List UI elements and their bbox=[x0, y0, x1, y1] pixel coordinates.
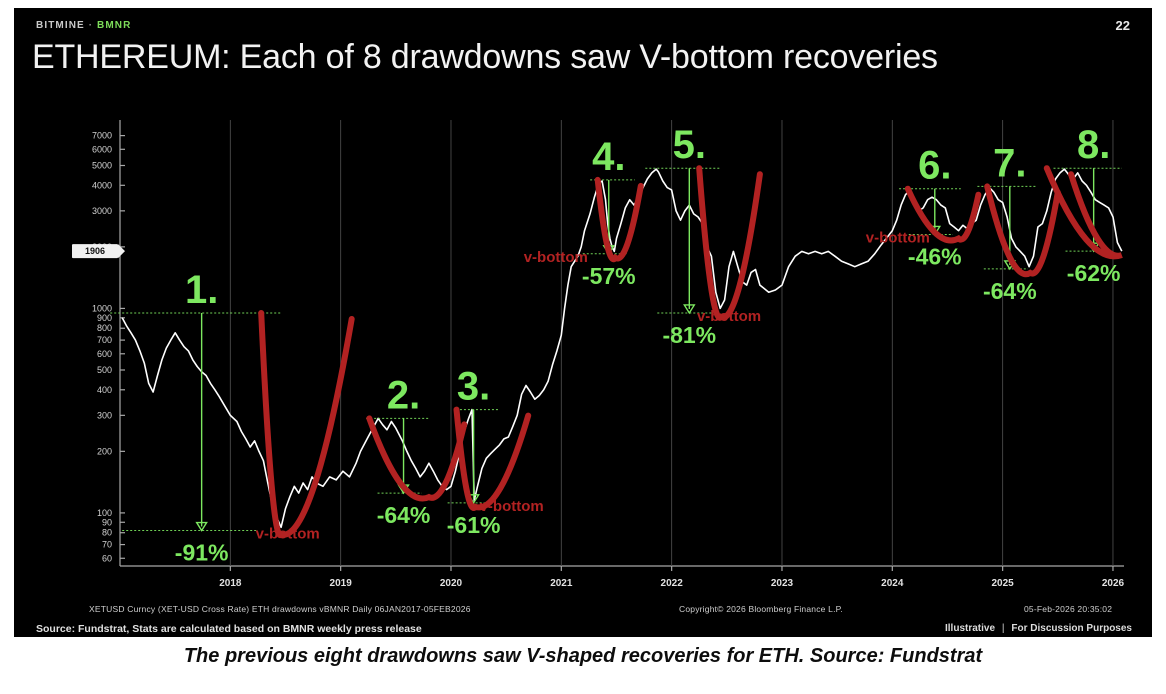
x-axis-tick-label: 2021 bbox=[550, 578, 573, 589]
v-bottom-text-label: v-bottom bbox=[866, 229, 930, 246]
x-axis-tick-label: 2024 bbox=[881, 578, 904, 589]
drawdown-number-label: 6. bbox=[918, 144, 951, 188]
drawdown-percent-label: -62% bbox=[1067, 260, 1121, 286]
bloomberg-footer-copyright: Copyright© 2026 Bloomberg Finance L.P. bbox=[679, 604, 843, 614]
chart-svg: 6070809010020030040050060070080090010002… bbox=[62, 106, 1132, 606]
drawdown-number-label: 8. bbox=[1077, 123, 1110, 167]
slide-caption: The previous eight drawdowns saw V-shape… bbox=[0, 645, 1166, 668]
x-axis-tick-label: 2019 bbox=[330, 578, 353, 589]
drawdown-percent-label: -81% bbox=[662, 322, 716, 348]
x-axis-tick-label: 2020 bbox=[440, 578, 463, 589]
drawdown-percent-label: -61% bbox=[447, 512, 501, 538]
drawdown-percent-label: -57% bbox=[582, 263, 636, 289]
v-bottom-text-label: v-bottom bbox=[256, 526, 320, 543]
y-axis-tick-label: 1000 bbox=[92, 303, 112, 313]
page-number: 22 bbox=[1116, 18, 1130, 33]
bloomberg-footer-left: XETUSD Curncy (XET-USD Cross Rate) ETH d… bbox=[89, 604, 471, 614]
y-axis-tick-label: 700 bbox=[97, 335, 112, 345]
ethereum-drawdown-chart: 6070809010020030040050060070080090010002… bbox=[62, 106, 1132, 606]
drawdown-labels: 1.-91%v-bottom2.-64%3.-61%v-bottom4.-57%… bbox=[175, 123, 1121, 565]
y-axis-tick-label: 6000 bbox=[92, 144, 112, 154]
page-title: ETHEREUM: Each of 8 drawdowns saw V-bott… bbox=[32, 38, 938, 77]
y-axis-tick-label: 80 bbox=[102, 528, 112, 538]
v-bottom-text-label: v-bottom bbox=[480, 498, 544, 515]
y-axis-tick-label: 70 bbox=[102, 540, 112, 550]
drawdown-number-label: 7. bbox=[993, 141, 1026, 185]
current-price-marker: 1906 bbox=[72, 244, 125, 258]
current-price-label: 1906 bbox=[85, 246, 105, 256]
drawdown-number-label: 4. bbox=[592, 135, 625, 179]
bloomberg-footer-timestamp: 05-Feb-2026 20:35:02 bbox=[1024, 604, 1112, 614]
v-bottom-curves bbox=[261, 168, 1122, 535]
brand-name: BITMINE bbox=[36, 20, 85, 31]
disclaimer-note: Illustrative | For Discussion Purposes bbox=[945, 623, 1132, 634]
y-axis-tick-label: 4000 bbox=[92, 180, 112, 190]
y-axis-tick-label: 3000 bbox=[92, 206, 112, 216]
x-axis-tick-label: 2018 bbox=[219, 578, 242, 589]
y-axis: 6070809010020030040050060070080090010002… bbox=[92, 120, 125, 566]
v-bottom-curve bbox=[699, 168, 760, 318]
y-axis-tick-label: 400 bbox=[97, 385, 112, 395]
x-axis: 201820192020202120222023202420252026 bbox=[120, 120, 1125, 589]
drawdown-percent-label: -64% bbox=[377, 502, 431, 528]
drawdown-number-label: 5. bbox=[673, 123, 706, 167]
y-axis-tick-label: 900 bbox=[97, 313, 112, 323]
y-axis-tick-label: 100 bbox=[97, 508, 112, 518]
slide-page: BITMINE · BMNR 22 ETHEREUM: Each of 8 dr… bbox=[0, 0, 1166, 694]
y-axis-tick-label: 800 bbox=[97, 323, 112, 333]
drawdown-number-label: 2. bbox=[387, 373, 420, 417]
v-bottom-text-label: v-bottom bbox=[697, 308, 761, 325]
v-bottom-curve bbox=[261, 313, 352, 535]
brand-ticker: BMNR bbox=[97, 20, 131, 31]
brand-lockup: BITMINE · BMNR bbox=[36, 20, 131, 31]
disclaimer-separator: | bbox=[998, 623, 1009, 634]
drawdown-percent-label: -64% bbox=[983, 278, 1037, 304]
x-axis-tick-label: 2023 bbox=[771, 578, 794, 589]
brand-separator: · bbox=[89, 20, 93, 31]
y-axis-tick-label: 200 bbox=[97, 446, 112, 456]
y-axis-tick-label: 60 bbox=[102, 553, 112, 563]
y-axis-tick-label: 500 bbox=[97, 365, 112, 375]
y-axis-tick-label: 600 bbox=[97, 349, 112, 359]
x-axis-tick-label: 2025 bbox=[992, 578, 1015, 589]
presentation-slide: BITMINE · BMNR 22 ETHEREUM: Each of 8 dr… bbox=[14, 8, 1152, 637]
v-bottom-text-label: v-bottom bbox=[524, 249, 588, 266]
y-axis-tick-label: 5000 bbox=[92, 160, 112, 170]
y-axis-tick-label: 7000 bbox=[92, 131, 112, 141]
drawdown-percent-label: -46% bbox=[908, 243, 962, 269]
x-axis-tick-label: 2022 bbox=[661, 578, 684, 589]
source-note: Source: Fundstrat, Stats are calculated … bbox=[36, 623, 422, 635]
y-axis-tick-label: 90 bbox=[102, 517, 112, 527]
drawdown-number-label: 3. bbox=[457, 365, 490, 409]
x-axis-tick-label: 2026 bbox=[1102, 578, 1125, 589]
y-axis-tick-label: 300 bbox=[97, 410, 112, 420]
drawdown-percent-label: -91% bbox=[175, 540, 229, 566]
disclaimer-right: For Discussion Purposes bbox=[1011, 623, 1132, 634]
drawdown-number-label: 1. bbox=[185, 268, 218, 312]
disclaimer-left: Illustrative bbox=[945, 623, 995, 634]
